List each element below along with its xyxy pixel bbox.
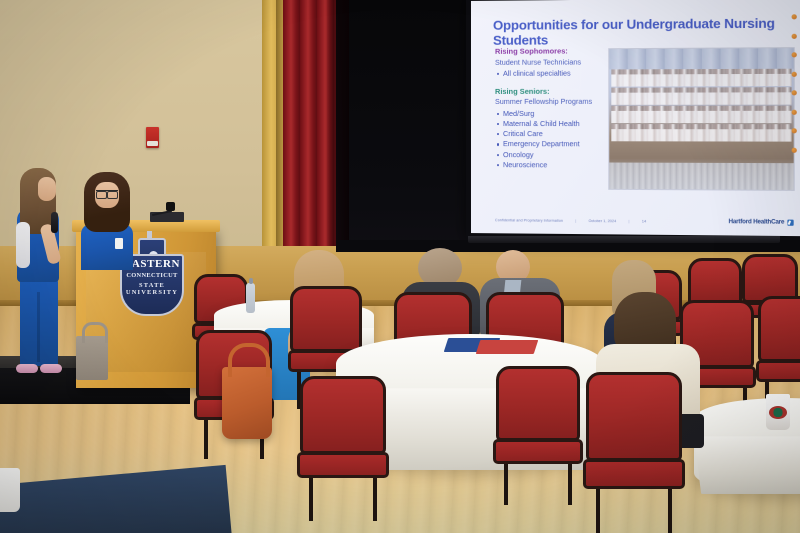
accent-dot: [792, 33, 797, 38]
footer-divider: |: [575, 219, 576, 223]
presenter-face: [38, 177, 56, 201]
eyeglasses-icon: [96, 190, 118, 196]
coffee-cup: [766, 394, 790, 430]
chair-leg: [568, 464, 572, 506]
presenter-legs: [20, 278, 58, 366]
chair-leg: [596, 489, 600, 533]
projection-screen: Opportunities for our Undergraduate Nurs…: [466, 0, 800, 243]
handbag: [222, 367, 272, 439]
podium-microphone: [152, 202, 174, 216]
presenter-shoe-left: [16, 364, 38, 373]
chair-seat: [756, 360, 800, 382]
hartford-healthcare-logo: Hartford HealthCare: [729, 219, 794, 226]
chair-leg: [204, 420, 208, 458]
chair-foreground: [300, 376, 386, 484]
photo-background-windows: [609, 48, 793, 69]
photo-foreground-floor: [609, 163, 793, 190]
chair-leg: [373, 478, 377, 521]
footer-divider: |: [629, 219, 630, 223]
accent-dot: [792, 52, 797, 57]
chair-seat: [297, 452, 388, 478]
section-heading-sophomores: Rising Sophomores:: [495, 46, 606, 57]
chair-back: [300, 376, 386, 454]
logo-text: Hartford HealthCare: [729, 219, 785, 226]
table-paper-red: [476, 340, 539, 354]
chair-seat: [583, 459, 685, 489]
chair-back: [758, 296, 800, 362]
photo-row: [611, 87, 791, 105]
section-gap: [495, 79, 606, 87]
projection-screen-bottom-bar: [468, 236, 780, 243]
list-item: Oncology: [495, 150, 606, 161]
chair-leg: [504, 464, 508, 506]
presenter-shoe-right: [40, 364, 62, 373]
chair-back: [586, 372, 682, 461]
list-item: Maternal & Child Health: [495, 119, 606, 129]
handheld-microphone-icon: [51, 212, 58, 233]
accent-dot: [792, 14, 797, 19]
chair-leg: [668, 489, 672, 533]
list-item: Emergency Department: [495, 139, 606, 150]
footer-confidentiality: Confidential and Proprietary Information: [495, 218, 563, 223]
logo-mark-icon: [787, 220, 793, 226]
bullet-list-seniors: Med/Surg Maternal & Child Health Critica…: [495, 109, 606, 171]
photo-student-rows: [609, 69, 793, 149]
bullet-list-sophomores: All clinical specialties: [495, 68, 606, 79]
list-item: Med/Surg: [495, 109, 606, 119]
presentation-hall-photo: Opportunities for our Undergraduate Nurs…: [0, 0, 800, 533]
crest-line-3: STATE UNIVERSITY: [121, 282, 183, 296]
chair-leg: [309, 478, 313, 521]
accent-dot: [792, 128, 797, 133]
section-subtitle-sophomores: Student Nurse Technicians: [495, 57, 606, 68]
chair-seat: [493, 439, 582, 464]
tablecloth-skirt: [694, 436, 800, 494]
presentation-slide: Opportunities for our Undergraduate Nurs…: [471, 0, 800, 236]
crest-line-2: CONNECTICUT: [121, 272, 183, 279]
section-heading-seniors: Rising Seniors:: [495, 87, 606, 98]
slide-group-photo: [608, 47, 794, 191]
chair-back: [688, 258, 742, 306]
fire-alarm-pull-station: [146, 127, 159, 148]
slide-title: Opportunities for our Undergraduate Nurs…: [493, 17, 775, 48]
chair-back: [496, 366, 580, 441]
list-item: All clinical specialties: [495, 68, 606, 79]
list-item: Critical Care: [495, 129, 606, 139]
footer-date: October 1, 2024: [588, 219, 616, 223]
tote-bag: [76, 336, 108, 380]
section-subtitle-seniors: Summer Fellowship Programs: [495, 97, 606, 107]
accent-dot: [792, 90, 797, 95]
slide-body: Rising Sophomores: Student Nurse Technic…: [495, 46, 606, 170]
presenter-undershirt-sleeve: [16, 222, 30, 268]
footer-page-number: 14: [642, 219, 646, 223]
accent-dot: [792, 109, 797, 114]
foreground-cup: [0, 468, 20, 512]
water-bottle: [246, 283, 255, 313]
slide-footer: Confidential and Proprietary Information…: [495, 217, 794, 226]
slide-accent-dots: [792, 14, 800, 166]
chair-foreground: [496, 366, 580, 470]
accent-dot: [792, 71, 797, 76]
photo-row: [611, 69, 791, 87]
photo-row: [611, 106, 791, 123]
chair-empty: [758, 296, 800, 388]
presenter2-id-badge: [115, 238, 123, 249]
chair-foreground: [586, 372, 682, 496]
list-item: Neuroscience: [495, 160, 606, 171]
photo-row: [611, 124, 791, 142]
chair-back: [290, 286, 362, 352]
accent-dot: [792, 147, 797, 152]
